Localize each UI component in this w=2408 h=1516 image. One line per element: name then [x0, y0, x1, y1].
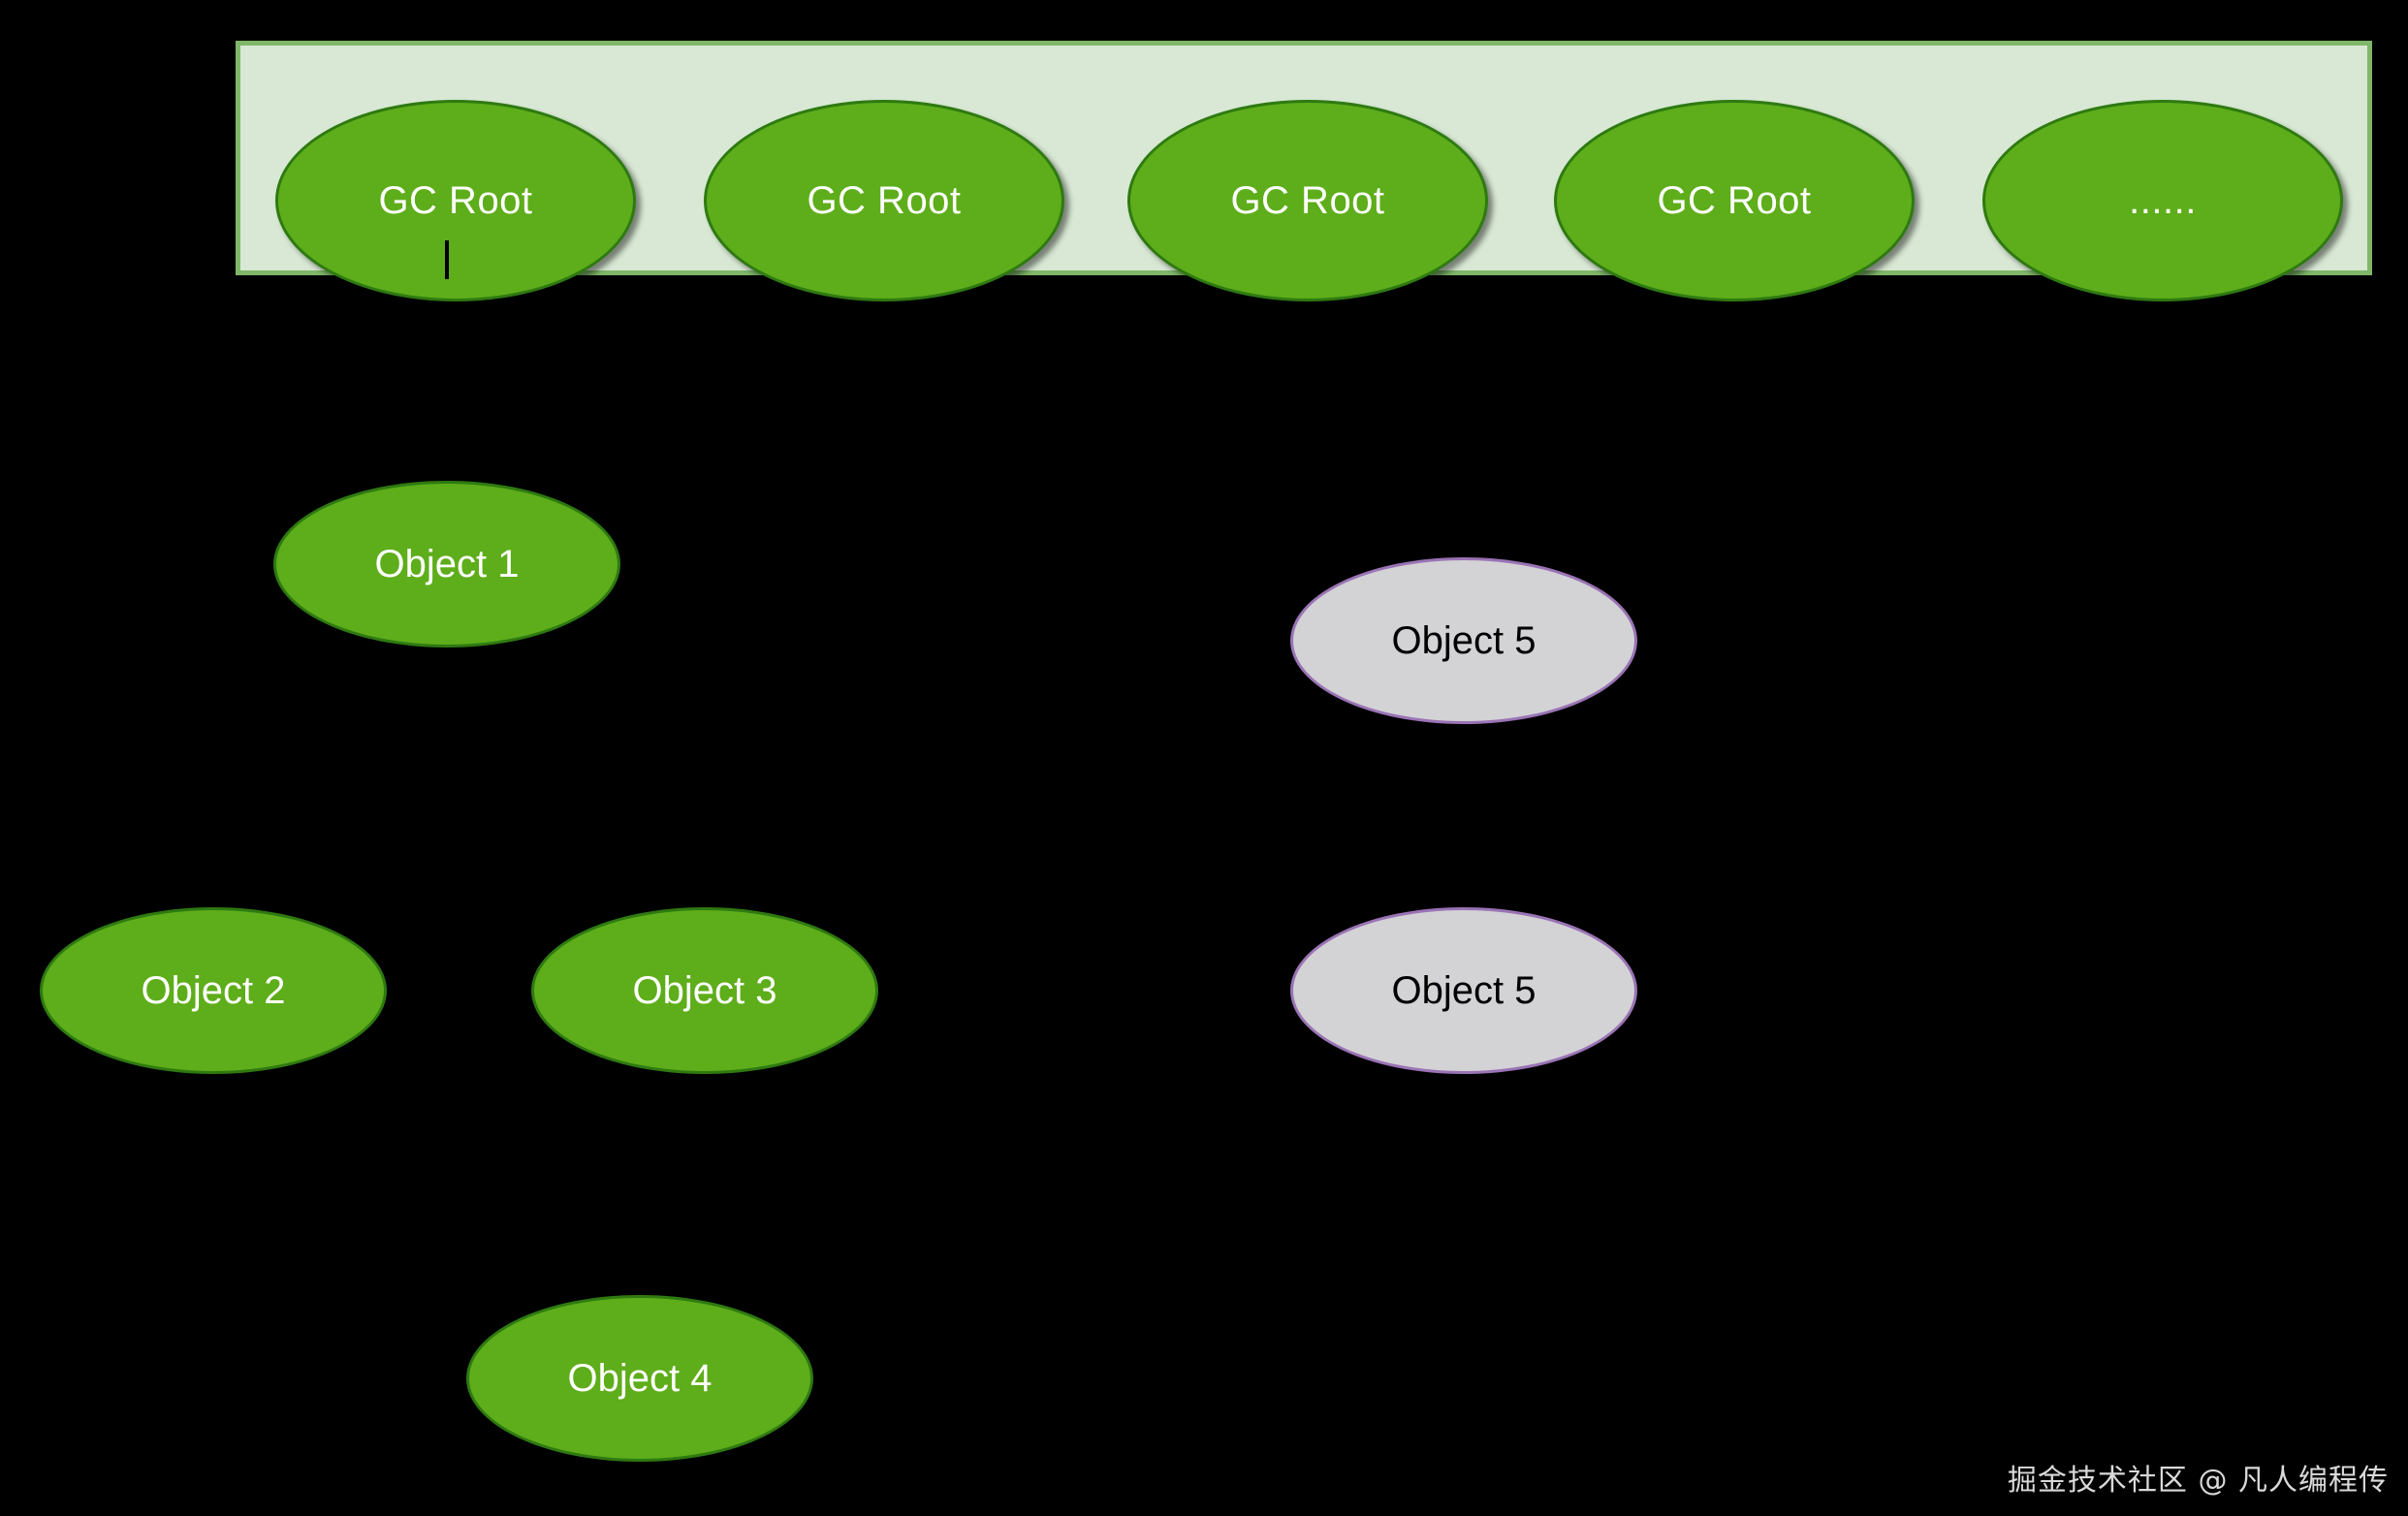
- gc-roots-container: GC Root GC Root GC Root GC Root ......: [236, 41, 2372, 275]
- object-label-5-bottom: Object 5: [1392, 971, 1537, 1010]
- watermark-text: 掘金技术社区 @ 凡人编程传: [2008, 1456, 2389, 1499]
- gc-root-node-ellipsis[interactable]: ......: [1982, 100, 2343, 301]
- gc-root-label-1: GC Root: [378, 181, 532, 220]
- object-node-2[interactable]: Object 2: [40, 907, 387, 1074]
- object-node-1[interactable]: Object 1: [273, 481, 620, 647]
- gc-root-label-ellipsis: ......: [2129, 181, 2197, 220]
- object-node-5-top[interactable]: Object 5: [1290, 557, 1637, 724]
- object-label-5-top: Object 5: [1392, 621, 1537, 660]
- object-label-2: Object 2: [142, 971, 286, 1010]
- object-node-3[interactable]: Object 3: [531, 907, 878, 1074]
- gc-root-node-3[interactable]: GC Root: [1127, 100, 1488, 301]
- gc-root-node-2[interactable]: GC Root: [704, 100, 1064, 301]
- gc-root-label-4: GC Root: [1657, 181, 1811, 220]
- gc-root-node-4[interactable]: GC Root: [1554, 100, 1915, 301]
- object-label-3: Object 3: [633, 971, 777, 1010]
- object-node-5-bottom[interactable]: Object 5: [1290, 907, 1637, 1074]
- object-label-1: Object 1: [375, 545, 520, 584]
- diagram-canvas: GC Root GC Root GC Root GC Root ...... O…: [0, 0, 2408, 1516]
- connector-gcroot1-down: [445, 240, 449, 279]
- object-label-4: Object 4: [568, 1359, 713, 1398]
- gc-root-label-3: GC Root: [1230, 181, 1384, 220]
- gc-root-node-1[interactable]: GC Root: [275, 100, 636, 301]
- gc-root-label-2: GC Root: [807, 181, 961, 220]
- object-node-4[interactable]: Object 4: [466, 1295, 813, 1462]
